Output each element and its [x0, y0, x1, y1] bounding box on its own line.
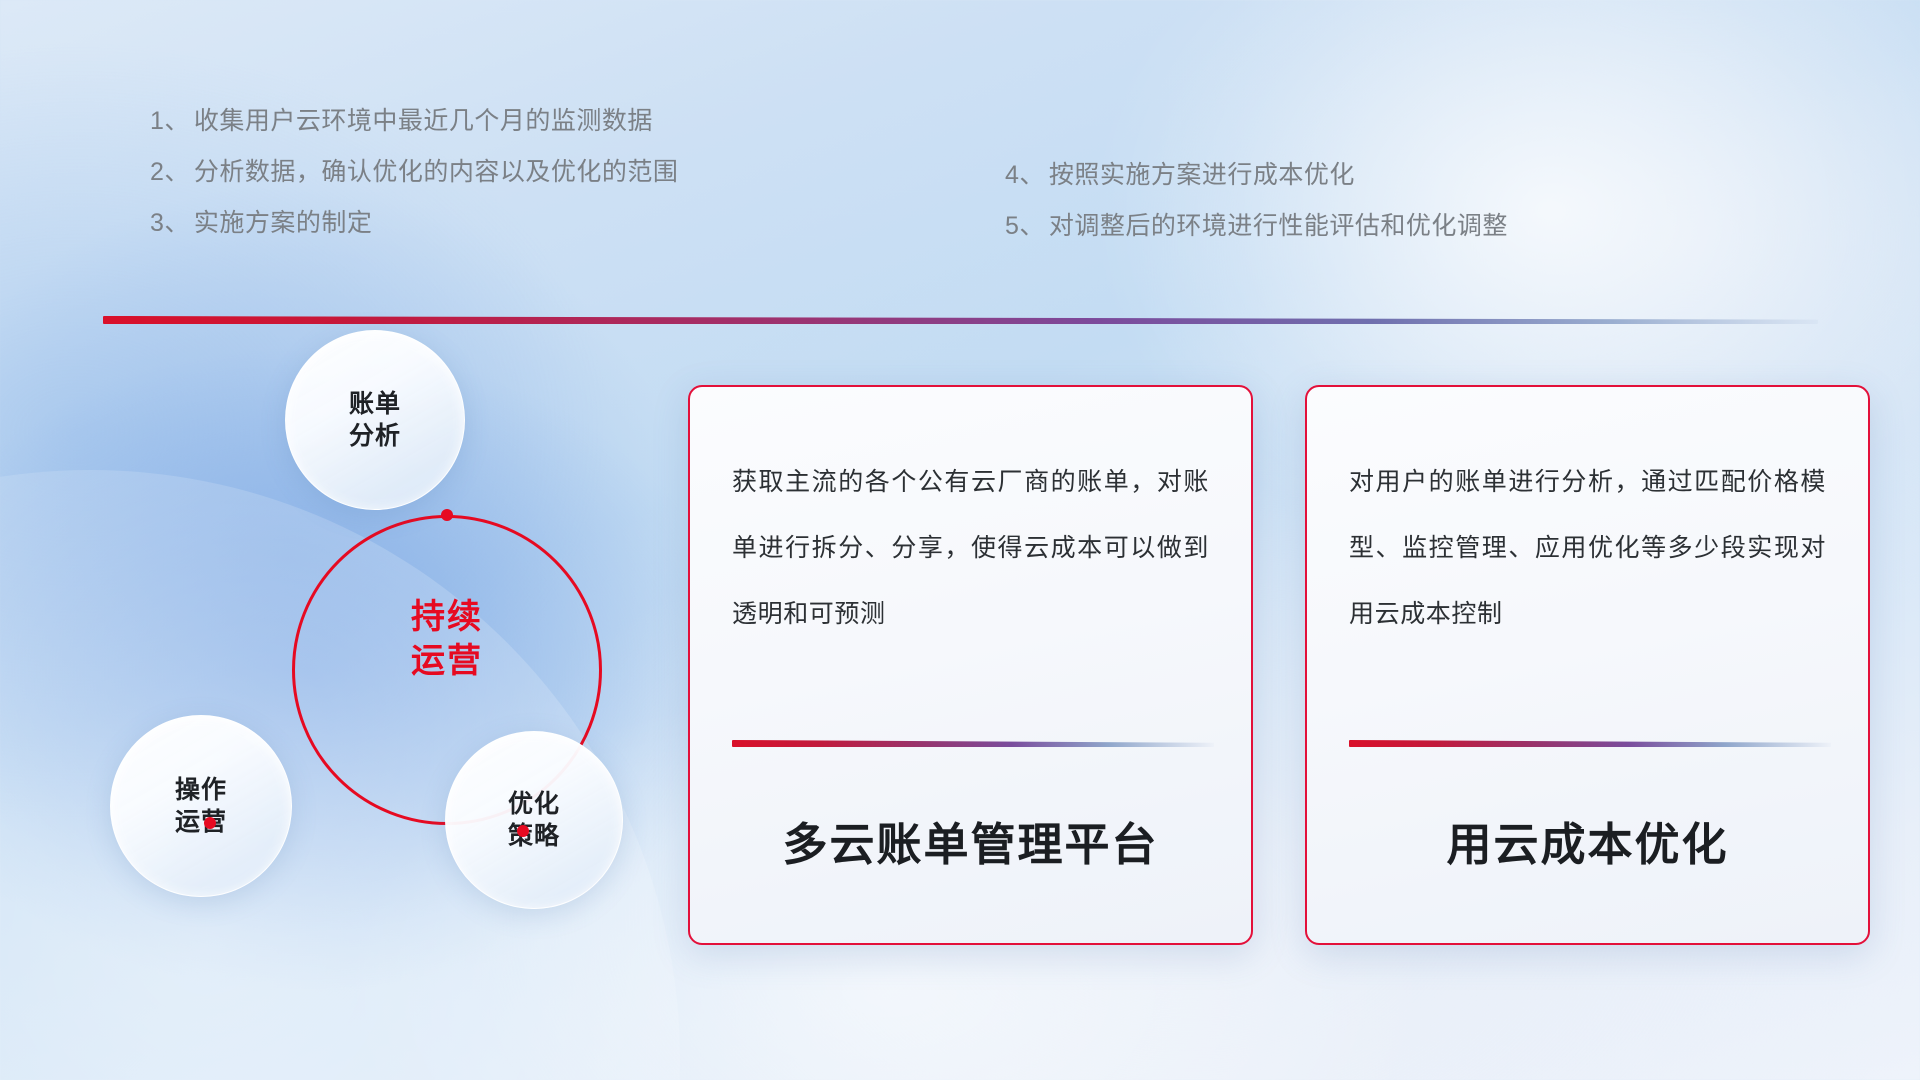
- step-item: 1、收集用户云环境中最近几个月的监测数据: [150, 96, 870, 147]
- step-text: 分析数据，确认优化的内容以及优化的范围: [194, 158, 679, 186]
- card-accent-rule: [1349, 740, 1831, 747]
- diagram-node-dot-top: [441, 509, 453, 521]
- card-multi-cloud-billing-platform[interactable]: 获取主流的各个公有云厂商的账单，对账单进行拆分、分享，使得云成本可以做到透明和可…: [688, 385, 1253, 945]
- step-text: 对调整后的环境进行性能评估和优化调整: [1049, 212, 1508, 240]
- diagram-bubble-optimization-strategy[interactable]: 优化 策略: [445, 731, 623, 909]
- bubble-label-line2: 运营: [175, 806, 227, 838]
- step-item: 3、实施方案的制定: [150, 198, 870, 249]
- section-divider: [103, 316, 1818, 324]
- card-cloud-cost-optimization[interactable]: 对用户的账单进行分析，通过匹配价格模型、监控管理、应用优化等多少段实现对用云成本…: [1305, 385, 1870, 945]
- step-item: 2、分析数据，确认优化的内容以及优化的范围: [150, 147, 870, 198]
- continuous-operation-diagram: 持续 运营 账单 分析 操作 运营 优化 策略: [95, 345, 655, 945]
- center-label-line2: 运营: [292, 639, 602, 683]
- step-number: 3、: [150, 209, 190, 237]
- step-item: 4、按照实施方案进行成本优化: [1005, 150, 1765, 201]
- step-number: 2、: [150, 158, 190, 186]
- bubble-label-line1: 操作: [175, 774, 227, 806]
- diagram-bubble-bill-analysis[interactable]: 账单 分析: [285, 330, 465, 510]
- card-body-text: 获取主流的各个公有云厂商的账单，对账单进行拆分、分享，使得云成本可以做到透明和可…: [690, 387, 1251, 647]
- step-text: 收集用户云环境中最近几个月的监测数据: [194, 107, 653, 135]
- step-text: 实施方案的制定: [194, 209, 373, 237]
- diagram-bubble-operations[interactable]: 操作 运营: [110, 715, 292, 897]
- bubble-label-line2: 分析: [349, 420, 401, 452]
- card-title: 用云成本优化: [1307, 808, 1868, 873]
- step-number: 5、: [1005, 212, 1045, 240]
- bubble-label: 账单 分析: [349, 388, 401, 452]
- center-label-line1: 持续: [292, 595, 602, 639]
- bubble-label: 优化 策略: [508, 788, 560, 852]
- steps-list-right: 4、按照实施方案进行成本优化 5、对调整后的环境进行性能评估和优化调整: [1005, 150, 1765, 252]
- bubble-label-line2: 策略: [508, 820, 560, 852]
- step-item: 5、对调整后的环境进行性能评估和优化调整: [1005, 201, 1765, 252]
- bubble-label: 操作 运营: [175, 774, 227, 838]
- steps-list-left: 1、收集用户云环境中最近几个月的监测数据 2、分析数据，确认优化的内容以及优化的…: [150, 96, 870, 249]
- bubble-label-line1: 优化: [508, 788, 560, 820]
- diagram-center-label: 持续 运营: [292, 595, 602, 683]
- step-text: 按照实施方案进行成本优化: [1049, 161, 1355, 189]
- bubble-label-line1: 账单: [349, 388, 401, 420]
- card-accent-rule: [732, 740, 1214, 747]
- step-number: 1、: [150, 107, 190, 135]
- step-number: 4、: [1005, 161, 1045, 189]
- diagram-node-dot-bottom-right: [517, 825, 529, 837]
- diagram-node-dot-bottom-left: [204, 817, 216, 829]
- card-body-text: 对用户的账单进行分析，通过匹配价格模型、监控管理、应用优化等多少段实现对用云成本…: [1307, 387, 1868, 647]
- card-title: 多云账单管理平台: [690, 808, 1251, 873]
